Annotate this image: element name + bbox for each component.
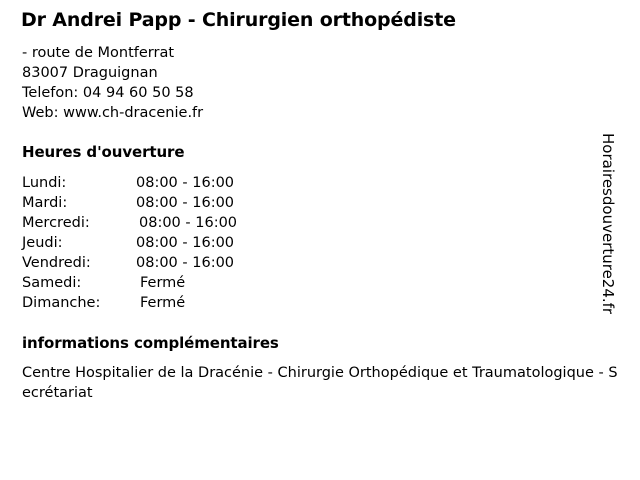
day-hours: 08:00 - 16:00 <box>136 253 237 273</box>
address-line-street: - route de Montferrat <box>22 43 203 63</box>
business-hours-card: Dr Andrei Papp - Chirurgien orthopédiste… <box>0 0 640 480</box>
day-hours: Fermé <box>136 273 237 293</box>
opening-hours-heading: Heures d'ouverture <box>22 143 184 161</box>
address-block: - route de Montferrat 83007 Draguignan T… <box>22 43 203 123</box>
table-row: Jeudi: 08:00 - 16:00 <box>22 233 237 253</box>
table-row: Vendredi: 08:00 - 16:00 <box>22 253 237 273</box>
day-hours: 08:00 - 16:00 <box>136 213 237 233</box>
day-label: Dimanche: <box>22 293 136 313</box>
day-hours: 08:00 - 16:00 <box>136 233 237 253</box>
day-hours: 08:00 - 16:00 <box>136 193 237 213</box>
page-title: Dr Andrei Papp - Chirurgien orthopédiste <box>21 9 456 31</box>
day-label: Mardi: <box>22 193 136 213</box>
table-row: Mercredi: 08:00 - 16:00 <box>22 213 237 233</box>
day-label: Samedi: <box>22 273 136 293</box>
opening-hours-table: Lundi: 08:00 - 16:00 Mardi: 08:00 - 16:0… <box>22 173 237 313</box>
table-row: Samedi: Fermé <box>22 273 237 293</box>
day-hours: 08:00 - 16:00 <box>136 173 237 193</box>
watermark-label: Horairesdouverture24.fr <box>598 133 618 349</box>
day-label: Vendredi: <box>22 253 136 273</box>
day-label: Jeudi: <box>22 233 136 253</box>
address-line-phone: Telefon: 04 94 60 50 58 <box>22 83 203 103</box>
day-hours: Fermé <box>136 293 237 313</box>
address-line-city: 83007 Draguignan <box>22 63 203 83</box>
day-label: Mercredi: <box>22 213 136 233</box>
additional-info-text: Centre Hospitalier de la Dracénie - Chir… <box>22 363 622 403</box>
additional-info-heading: informations complémentaires <box>22 334 279 352</box>
table-row: Lundi: 08:00 - 16:00 <box>22 173 237 193</box>
address-line-website: Web: www.ch-dracenie.fr <box>22 103 203 123</box>
table-row: Dimanche: Fermé <box>22 293 237 313</box>
table-row: Mardi: 08:00 - 16:00 <box>22 193 237 213</box>
day-label: Lundi: <box>22 173 136 193</box>
